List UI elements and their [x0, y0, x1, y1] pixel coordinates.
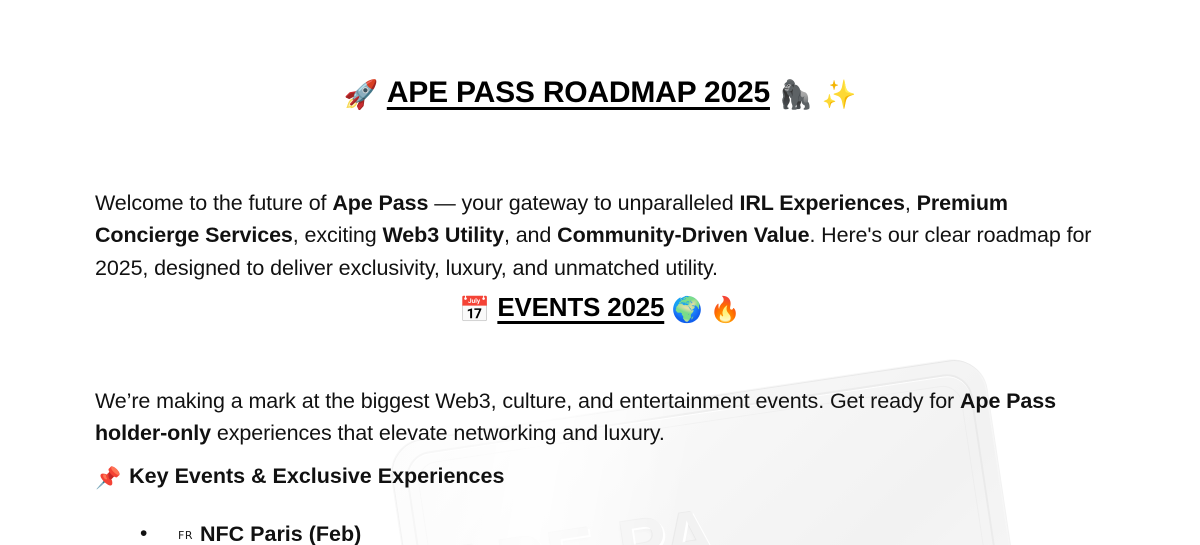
- intro-text-4: , exciting: [293, 223, 383, 247]
- sparkles-icon: ✨: [822, 79, 857, 110]
- intro-bold-irl-experiences: IRL Experiences: [739, 191, 904, 215]
- events-section-heading: 📅 EVENTS 2025 🌍 🔥: [0, 294, 1200, 323]
- document-page: APE PA 🚀 APE PASS ROADMAP 2025 🦍 ✨ Welco…: [0, 0, 1200, 545]
- list-item-label: NFC Paris (Feb): [200, 522, 361, 545]
- events-text-2: experiences that elevate networking and …: [211, 421, 665, 445]
- page-title-text: APE PASS ROADMAP 2025: [387, 76, 770, 109]
- fire-icon: 🔥: [710, 296, 741, 324]
- calendar-icon: 📅: [459, 296, 490, 324]
- intro-text-5: , and: [504, 223, 557, 247]
- gorilla-icon: 🦍: [778, 79, 813, 110]
- intro-text-2: — your gateway to unparalleled: [428, 191, 739, 215]
- intro-text-1: Welcome to the future of: [95, 191, 332, 215]
- pushpin-icon: 📌: [95, 467, 121, 490]
- globe-icon: 🌍: [671, 296, 702, 324]
- rocket-icon: 🚀: [344, 79, 379, 110]
- intro-text-3: ,: [905, 191, 917, 215]
- page-title: 🚀 APE PASS ROADMAP 2025 🦍 ✨: [0, 78, 1200, 109]
- intro-bold-web3-utility: Web3 Utility: [383, 223, 504, 247]
- intro-bold-ape-pass: Ape Pass: [332, 191, 428, 215]
- key-events-list: •FRNFC Paris (Feb): [95, 519, 1107, 545]
- key-events-heading: 📌Key Events & Exclusive Experiences: [95, 461, 504, 494]
- intro-paragraph: Welcome to the future of Ape Pass — your…: [95, 187, 1107, 285]
- list-bullet: •: [140, 519, 147, 545]
- flag-fr-icon: FR: [178, 521, 193, 545]
- list-item: •FRNFC Paris (Feb): [95, 519, 1107, 545]
- events-heading-text: EVENTS 2025: [497, 292, 664, 322]
- intro-bold-community-value: Community-Driven Value: [557, 223, 809, 247]
- key-events-heading-text: Key Events & Exclusive Experiences: [129, 464, 504, 488]
- events-text-1: We’re making a mark at the biggest Web3,…: [95, 389, 960, 413]
- events-paragraph: We’re making a mark at the biggest Web3,…: [95, 385, 1107, 450]
